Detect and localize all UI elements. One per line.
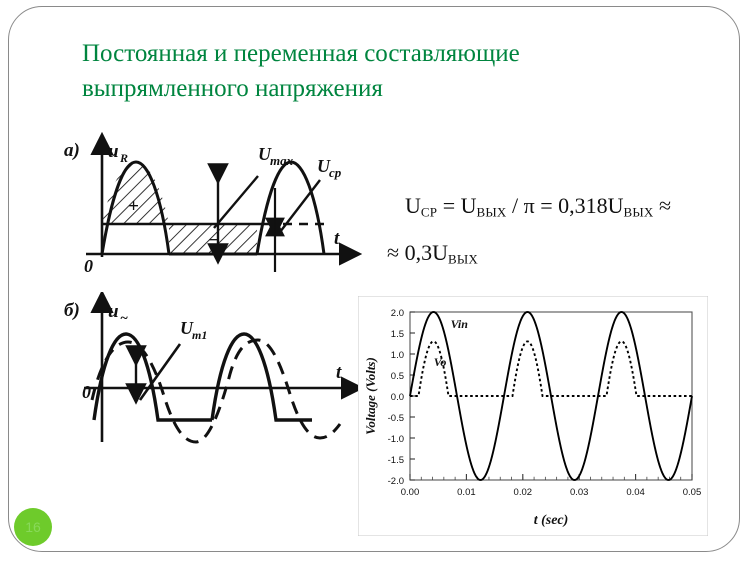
chart-x-tick-label: 0.02 (514, 487, 533, 498)
formula-u-cp: U (405, 193, 421, 218)
slide-number-badge: 16 (14, 508, 52, 546)
formula-block: UСР = UВЫХ / π = 0,318UВЫХ ≈ ≈ 0,3UВЫХ (405, 186, 725, 279)
diagram-a-origin-label: 0 (84, 256, 93, 276)
formula-sub-cp: СР (421, 205, 437, 220)
formula-line-2: ≈ 0,3UВЫХ (387, 233, 725, 280)
formula-line-1: UСР = UВЫХ / π = 0,318UВЫХ ≈ (405, 193, 671, 218)
diagram-b-solid-wave (94, 334, 312, 420)
diagram-a-umax-leader (214, 176, 258, 228)
diagram-b-ac-component: б) u ~ t 0 U m1 (62, 292, 362, 452)
formula-sub-vyh-3: ВЫХ (448, 251, 478, 266)
diagram-b-origin-label: 0 (82, 382, 91, 402)
formula-sub-vyh-2: ВЫХ (624, 205, 654, 220)
formula-sub-vyh-1: ВЫХ (477, 205, 507, 220)
diagram-b-y-label: u (108, 301, 119, 322)
diagram-a-positive-sign: + (128, 196, 139, 217)
chart-x-tick-label: 0.04 (626, 487, 645, 498)
chart-y-tick-label: -1.0 (388, 434, 404, 445)
chart-x-tick-label: 0.05 (683, 487, 702, 498)
chart-y-tick-label: 0.0 (391, 392, 404, 403)
diagram-a-x-label: t (334, 228, 340, 249)
formula-eq-2: / π = 0,318U (507, 193, 624, 218)
diagram-b-x-label: t (336, 362, 342, 383)
chart-x-axis-label: t (sec) (534, 513, 569, 528)
chart-series-label: Vo (434, 355, 447, 369)
chart-y-tick-label: -1.5 (388, 455, 404, 466)
slide-canvas: Постоянная и переменная составляющие вып… (0, 0, 750, 562)
diagram-a-y-label: u (108, 141, 119, 162)
chart-y-tick-label: 1.0 (391, 350, 404, 361)
diagram-a-negative-sign: − (208, 230, 220, 251)
diagram-a-halfwave-2 (257, 162, 324, 254)
rectifier-voltage-chart: 2.01.51.00.50.0-0.5-1.0-1.5-2.0 0.000.01… (358, 296, 708, 536)
diagram-a-umax-label-sub: max (270, 153, 294, 168)
chart-y-tick-label: 1.5 (391, 329, 404, 340)
diagram-b-panel-label: б) (64, 300, 80, 321)
chart-y-tick-label: 2.0 (391, 308, 404, 319)
chart-y-tick-label: -0.5 (388, 413, 404, 424)
formula-approx-2: ≈ 0,3U (387, 240, 448, 265)
chart-x-tick-label: 0.01 (457, 487, 476, 498)
diagram-a-y-label-sub: R (119, 151, 128, 165)
formula-eq-1: = U (437, 193, 476, 218)
chart-series-label: Vin (451, 317, 469, 331)
diagram-a-ucp-label-sub: cp (329, 165, 342, 180)
formula-approx-1: ≈ (654, 193, 672, 218)
diagram-b-um1-label-sub: m1 (192, 328, 207, 342)
diagram-a-panel-label: a) (64, 140, 80, 161)
diagram-a-rectified-voltage: a) u R t 0 U max U cp + − (62, 132, 362, 282)
chart-y-tick-label: 0.5 (391, 371, 404, 382)
chart-y-axis-label: Voltage (Volts) (363, 357, 378, 435)
page-title: Постоянная и переменная составляющие вып… (82, 36, 642, 106)
chart-x-tick-label: 0.03 (570, 487, 589, 498)
chart-y-tick-label: -2.0 (388, 476, 404, 487)
diagram-b-y-label-sub: ~ (120, 311, 128, 326)
chart-x-tick-label: 0.00 (401, 487, 420, 498)
